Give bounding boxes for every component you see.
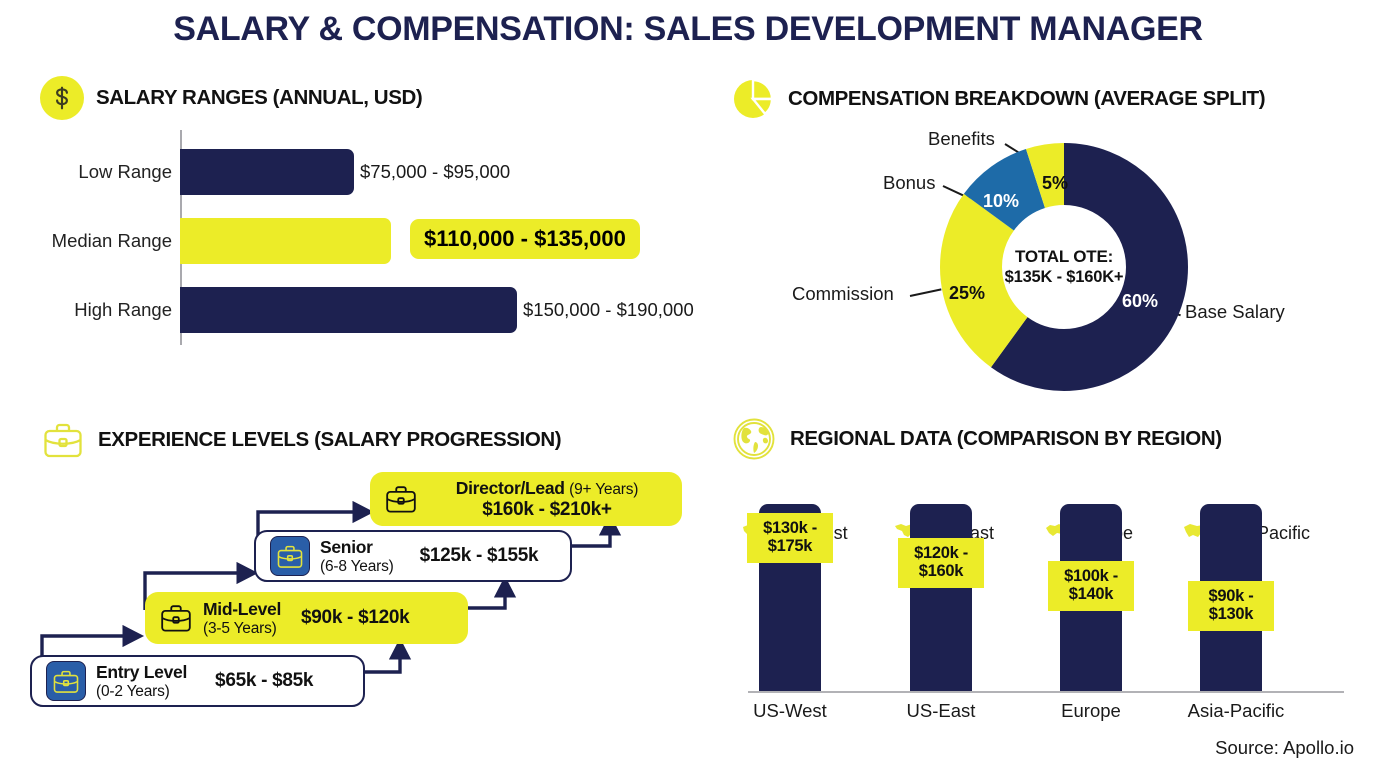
donut-pct-base-salary: 60% bbox=[1122, 291, 1158, 312]
dollar-sign-icon bbox=[40, 76, 84, 120]
bar-high-range bbox=[180, 287, 517, 333]
bar-value-high-range: $150,000 - $190,000 bbox=[523, 299, 694, 321]
experience-level-name-entry: Entry Level bbox=[96, 662, 187, 683]
experience-level-years-director: (9+ Years) bbox=[569, 481, 638, 498]
region-value-line2-us-east: $160k bbox=[919, 563, 963, 581]
donut-pct-bonus: 10% bbox=[983, 191, 1019, 212]
briefcase-icon bbox=[270, 536, 310, 576]
region-value-line2-europe: $140k bbox=[1069, 586, 1113, 604]
section-header-salary-ranges: SALARY RANGES (ANNUAL, USD) bbox=[40, 76, 422, 120]
region-value-line2-us-west: $175k bbox=[768, 538, 812, 556]
region-value-line1-us-east: $120k - bbox=[914, 545, 968, 563]
donut-callout-label-commission: Commission bbox=[792, 283, 894, 305]
donut-callout-label-base-salary: Base Salary bbox=[1185, 301, 1285, 323]
experience-level-name-mid: Mid-Level bbox=[203, 599, 281, 620]
bar-low-range bbox=[180, 149, 354, 195]
experience-level-entry[interactable]: Entry Level (0-2 Years) $65k - $85k bbox=[30, 655, 365, 707]
pie-chart-icon bbox=[730, 76, 776, 122]
experience-level-mid[interactable]: Mid-Level (3-5 Years) $90k - $120k bbox=[145, 592, 468, 644]
section-title-regional: REGIONAL DATA (COMPARISON BY REGION) bbox=[790, 427, 1222, 451]
experience-level-name-senior: Senior bbox=[320, 537, 394, 558]
region-bar-us-east bbox=[910, 504, 972, 691]
regional-data-chart: US-West $130k - $175k US-West US-East $1… bbox=[730, 460, 1376, 730]
section-title-compensation: COMPENSATION BREAKDOWN (AVERAGE SPLIT) bbox=[788, 87, 1265, 111]
experience-level-years-entry: (0-2 Years) bbox=[96, 683, 187, 701]
experience-level-salary-senior: $125k - $155k bbox=[420, 545, 539, 567]
chart-baseline bbox=[748, 691, 1344, 693]
region-value-europe: $100k - $140k bbox=[1048, 561, 1134, 611]
bar-row-median-range: Median Range $110,000 - $135,000 bbox=[0, 217, 720, 265]
briefcase-icon bbox=[384, 484, 418, 514]
section-title-experience: EXPERIENCE LEVELS (SALARY PROGRESSION) bbox=[98, 428, 561, 452]
bar-value-low-range: $75,000 - $95,000 bbox=[360, 161, 510, 183]
section-header-regional: REGIONAL DATA (COMPARISON BY REGION) bbox=[730, 415, 1222, 463]
compensation-breakdown-chart: Benefits Bonus Commission Base Salary TO… bbox=[730, 125, 1376, 415]
experience-level-salary-director: $160k - $210k+ bbox=[482, 499, 611, 521]
region-axis-label-europe: Europe bbox=[1031, 700, 1151, 722]
briefcase-icon bbox=[40, 418, 86, 462]
region-value-line2-asia-pacific: $130k bbox=[1209, 606, 1253, 624]
experience-level-director[interactable]: Director/Lead (9+ Years) $160k - $210k+ bbox=[370, 472, 682, 526]
donut-pct-benefits: 5% bbox=[1042, 173, 1068, 194]
donut-pct-commission: 25% bbox=[949, 283, 985, 304]
donut-callout-label-bonus: Bonus bbox=[883, 172, 935, 194]
experience-level-senior[interactable]: Senior (6-8 Years) $125k - $155k bbox=[254, 530, 572, 582]
infographic-page: SALARY & COMPENSATION: SALES DEVELOPMENT… bbox=[0, 0, 1376, 768]
experience-levels-diagram: Director/Lead (9+ Years) $160k - $210k+ … bbox=[0, 460, 720, 730]
region-value-line1-us-west: $130k - bbox=[763, 520, 817, 538]
bar-row-low-range: Low Range $75,000 - $95,000 bbox=[0, 148, 720, 196]
bar-value-median-range: $110,000 - $135,000 bbox=[410, 219, 640, 259]
region-axis-label-us-east: US-East bbox=[881, 700, 1001, 722]
experience-level-name-director: Director/Lead bbox=[456, 478, 565, 498]
bar-label-median-range: Median Range bbox=[0, 230, 172, 252]
salary-ranges-chart: Low Range $75,000 - $95,000 Median Range… bbox=[0, 130, 720, 355]
region-value-us-east: $120k - $160k bbox=[898, 538, 984, 588]
region-value-line1-asia-pacific: $90k - bbox=[1209, 588, 1254, 606]
region-axis-label-us-west: US-West bbox=[730, 700, 850, 722]
region-value-asia-pacific: $90k - $130k bbox=[1188, 581, 1274, 631]
section-title-salary-ranges: SALARY RANGES (ANNUAL, USD) bbox=[96, 86, 422, 110]
briefcase-icon bbox=[46, 661, 86, 701]
experience-level-years-mid: (3-5 Years) bbox=[203, 620, 281, 638]
region-value-line1-europe: $100k - bbox=[1064, 568, 1118, 586]
bar-label-low-range: Low Range bbox=[0, 161, 172, 183]
source-attribution: Source: Apollo.io bbox=[1215, 737, 1354, 759]
globe-icon bbox=[730, 415, 778, 463]
donut-leader-line-commission bbox=[910, 288, 942, 297]
section-header-compensation: COMPENSATION BREAKDOWN (AVERAGE SPLIT) bbox=[730, 76, 1265, 122]
region-axis-label-asia-pacific: Asia-Pacific bbox=[1171, 700, 1301, 722]
briefcase-icon bbox=[159, 603, 193, 633]
bar-row-high-range: High Range $150,000 - $190,000 bbox=[0, 286, 720, 334]
experience-level-years-senior: (6-8 Years) bbox=[320, 558, 394, 576]
page-title: SALARY & COMPENSATION: SALES DEVELOPMENT… bbox=[0, 10, 1376, 49]
experience-level-salary-mid: $90k - $120k bbox=[301, 607, 409, 629]
bar-label-high-range: High Range bbox=[0, 299, 172, 321]
experience-level-salary-entry: $65k - $85k bbox=[215, 670, 313, 692]
region-value-us-west: $130k - $175k bbox=[747, 513, 833, 563]
section-header-experience: EXPERIENCE LEVELS (SALARY PROGRESSION) bbox=[40, 418, 561, 462]
bar-median-range bbox=[180, 218, 391, 264]
